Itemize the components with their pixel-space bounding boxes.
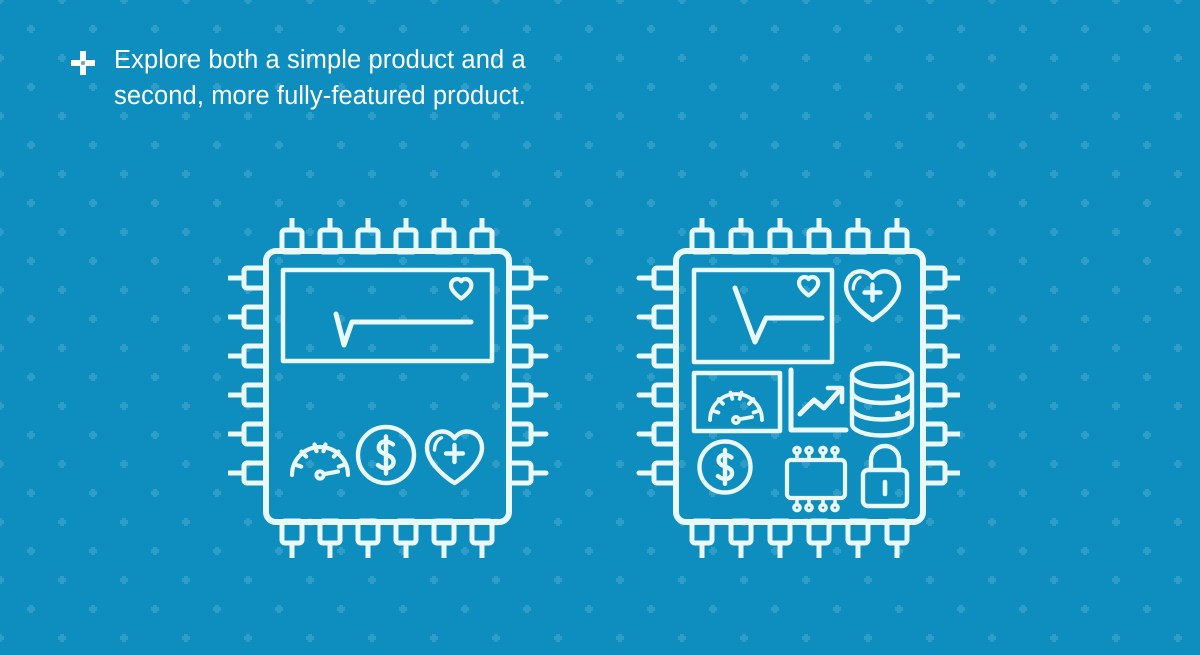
chip-pins-top [692, 218, 907, 252]
heart-icon [451, 279, 471, 299]
simple-product-chip [228, 218, 558, 558]
microchip-icon [787, 447, 845, 510]
chip-pins-left [639, 268, 676, 483]
heart-plus-icon [846, 271, 899, 320]
lock-icon [863, 446, 907, 506]
heart-plus-icon [427, 432, 482, 484]
plus-bullet-icon [70, 50, 96, 76]
ecg-screen [283, 270, 492, 361]
database-icon [852, 364, 912, 436]
ecg-waveform [336, 314, 471, 345]
fully-featured-product-chip [630, 218, 960, 558]
dollar-circle-icon [358, 427, 414, 483]
headline-text: Explore both a simple product and a seco… [114, 42, 526, 114]
gauge-icon [710, 393, 762, 424]
trend-chart-icon [791, 370, 846, 430]
heart-icon [799, 277, 818, 296]
chip-pins-right [923, 268, 960, 483]
trend-arrow-icon [800, 388, 842, 414]
chip-pins-right [509, 268, 546, 483]
chip-pins-bottom [692, 521, 907, 558]
chip-pins-top [282, 218, 492, 252]
chip-pins-left [229, 268, 266, 483]
chip-pins-bottom [282, 521, 492, 558]
slide-canvas: Explore both a simple product and a seco… [0, 0, 1200, 655]
gauge-icon [292, 445, 348, 479]
dollar-circle-icon [700, 442, 751, 493]
headline-block: Explore both a simple product and a seco… [70, 42, 526, 114]
